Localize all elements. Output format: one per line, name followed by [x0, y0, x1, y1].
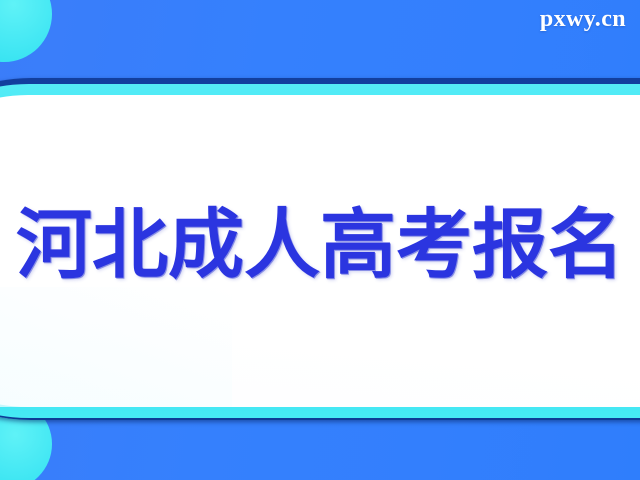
promo-banner: 河北成人高考报名 pxwy.cn: [0, 0, 640, 480]
headline-container: 河北成人高考报名: [0, 186, 640, 304]
site-watermark: pxwy.cn: [540, 6, 626, 33]
cyan-circle-decoration-top-icon: [0, 0, 52, 62]
banner-headline: 河北成人高考报名: [16, 207, 624, 283]
